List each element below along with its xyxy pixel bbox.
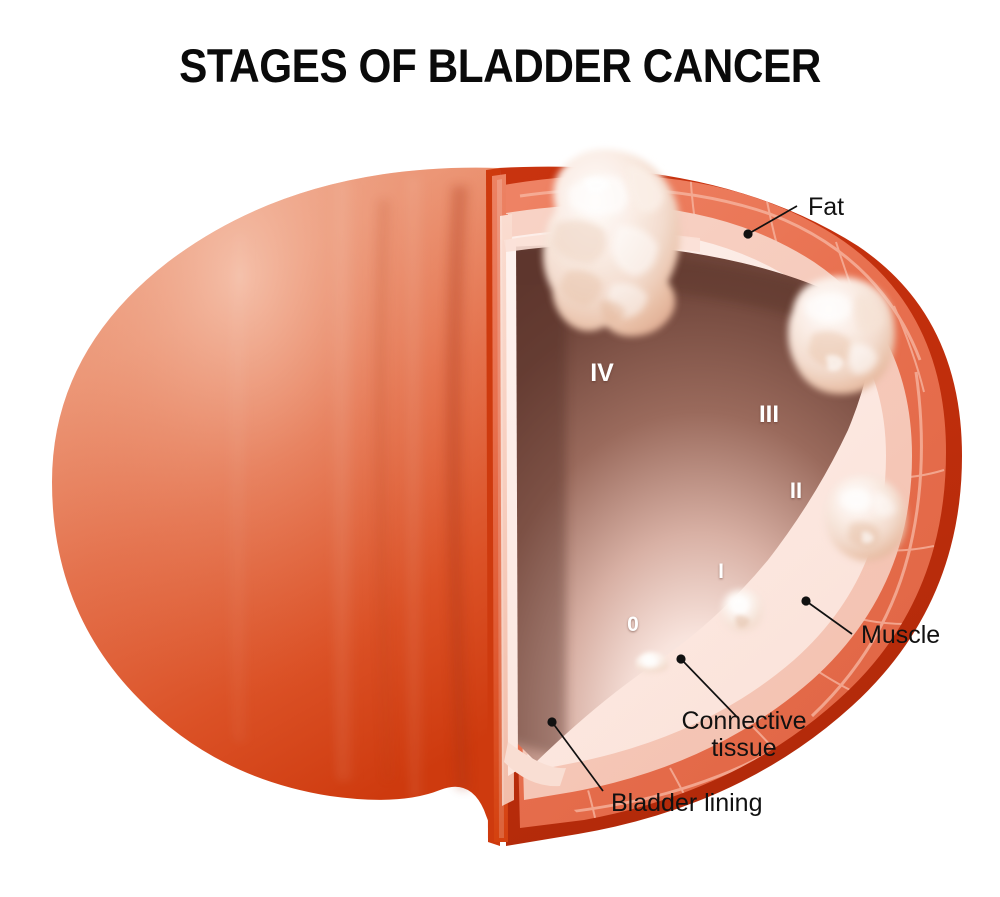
tumor-stage-3 — [788, 276, 895, 394]
tumor-stage-4 — [543, 149, 680, 336]
label-fat: Fat — [808, 194, 844, 221]
dot-muscle — [801, 596, 810, 605]
stage-label-ii: II — [790, 478, 802, 504]
dot-connective-tissue — [676, 654, 685, 663]
label-connective-tissue: Connective tissue — [681, 708, 806, 762]
label-bladder-lining: Bladder lining — [611, 790, 763, 817]
illustration-canvas: STAGES OF BLADDER CANCER — [0, 0, 1000, 897]
dot-bladder-lining — [547, 717, 556, 726]
label-muscle: Muscle — [861, 622, 940, 649]
bladder-body-exterior — [52, 168, 500, 846]
bladder-cancer-diagram — [0, 0, 1000, 897]
stage-label-i: I — [718, 560, 724, 584]
dot-fat — [743, 229, 752, 238]
stage-label-iii: III — [759, 401, 779, 429]
tumor-stage-1 — [722, 590, 763, 631]
stage-label-0: 0 — [627, 613, 639, 637]
stage-label-iv: IV — [590, 359, 614, 388]
